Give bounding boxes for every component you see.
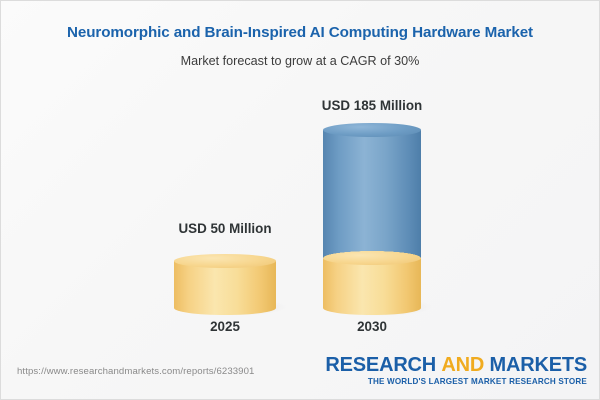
report-url[interactable]: https://www.researchandmarkets.com/repor…	[17, 366, 255, 377]
plot-area: USD 50 Million 2025 USD 185 Million	[1, 1, 600, 346]
cylinder-body-2025	[174, 261, 276, 308]
value-label-2030: USD 185 Million	[322, 98, 422, 113]
cylinder-top-cap-2030	[323, 123, 421, 137]
brand-logo-wordmark: RESEARCH AND MARKETS	[325, 355, 587, 375]
value-label-2025: USD 50 Million	[178, 221, 271, 236]
brand-logo-word-research: RESEARCH	[325, 354, 436, 376]
cylinder-top-cap-2025	[174, 254, 276, 268]
chart-card: Neuromorphic and Brain-Inspired AI Compu…	[0, 0, 600, 400]
cylinder-upper-segment-2030	[323, 130, 421, 258]
brand-logo[interactable]: RESEARCH AND MARKETS THE WORLD'S LARGEST…	[325, 355, 587, 386]
bar-group-2030: USD 185 Million 2030	[323, 1, 421, 346]
cylinder-2030[interactable]	[323, 123, 421, 308]
category-label-2030: 2030	[357, 319, 387, 334]
bar-group-2025: USD 50 Million 2025	[174, 1, 276, 346]
footer: https://www.researchandmarkets.com/repor…	[1, 344, 600, 399]
brand-logo-word-and: AND	[441, 354, 484, 376]
category-label-2025: 2025	[210, 319, 240, 334]
cylinder-2025[interactable]	[174, 254, 276, 308]
brand-logo-tagline: THE WORLD'S LARGEST MARKET RESEARCH STOR…	[325, 378, 587, 386]
brand-logo-word-markets: MARKETS	[490, 354, 588, 376]
